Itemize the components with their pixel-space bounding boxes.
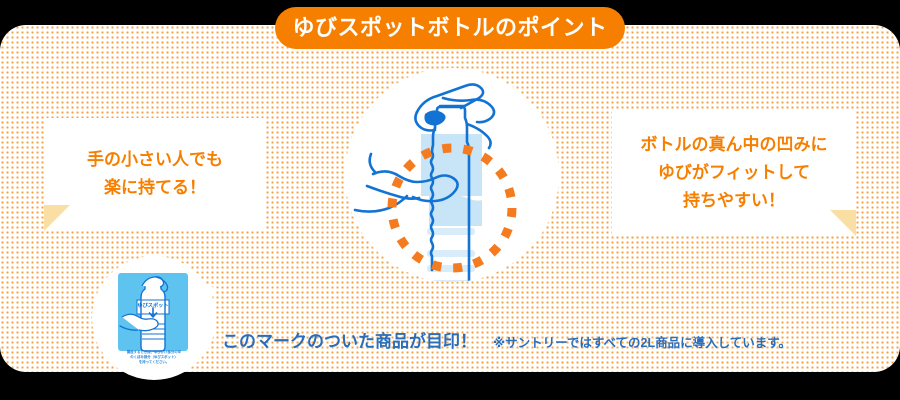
callout-left: 手の小さい人でも 楽に持てる！	[44, 118, 266, 230]
hand-holding-bottle-icon	[345, 68, 559, 282]
illustration-circle	[345, 68, 559, 282]
mark-caption: 開栓するときは、ゆびかけ部分の中 のくぼみ部分（ゆびスポット） を持ってください…	[108, 350, 200, 365]
footer-note-text: ※サントリーではすべての2L商品に導入しています。	[493, 332, 791, 351]
callout-right-text: ボトルの真ん中の凹みに ゆびがフィットして 持ちやすい！	[641, 131, 828, 215]
footer-caption: このマークのついた商品が目印！ ※サントリーではすべての2L商品に導入しています…	[222, 327, 791, 352]
page-title: ゆびスポットボトルのポイント	[292, 17, 607, 39]
callout-left-fold-corner	[44, 205, 70, 231]
callout-right: ボトルの真ん中の凹みに ゆびがフィットして 持ちやすい！	[612, 110, 856, 236]
footer-main-text: このマークのついた商品が目印！	[222, 327, 477, 352]
callout-right-fold-corner	[830, 210, 856, 236]
callout-left-text: 手の小さい人でも 楽に持てる！	[87, 146, 223, 202]
infographic-root: ゆびスポットボトルのポイント 手の小さい人でも 楽に持てる！ ボトルの真ん中の凹…	[0, 0, 900, 400]
title-banner: ゆびスポットボトルのポイント	[275, 7, 625, 49]
